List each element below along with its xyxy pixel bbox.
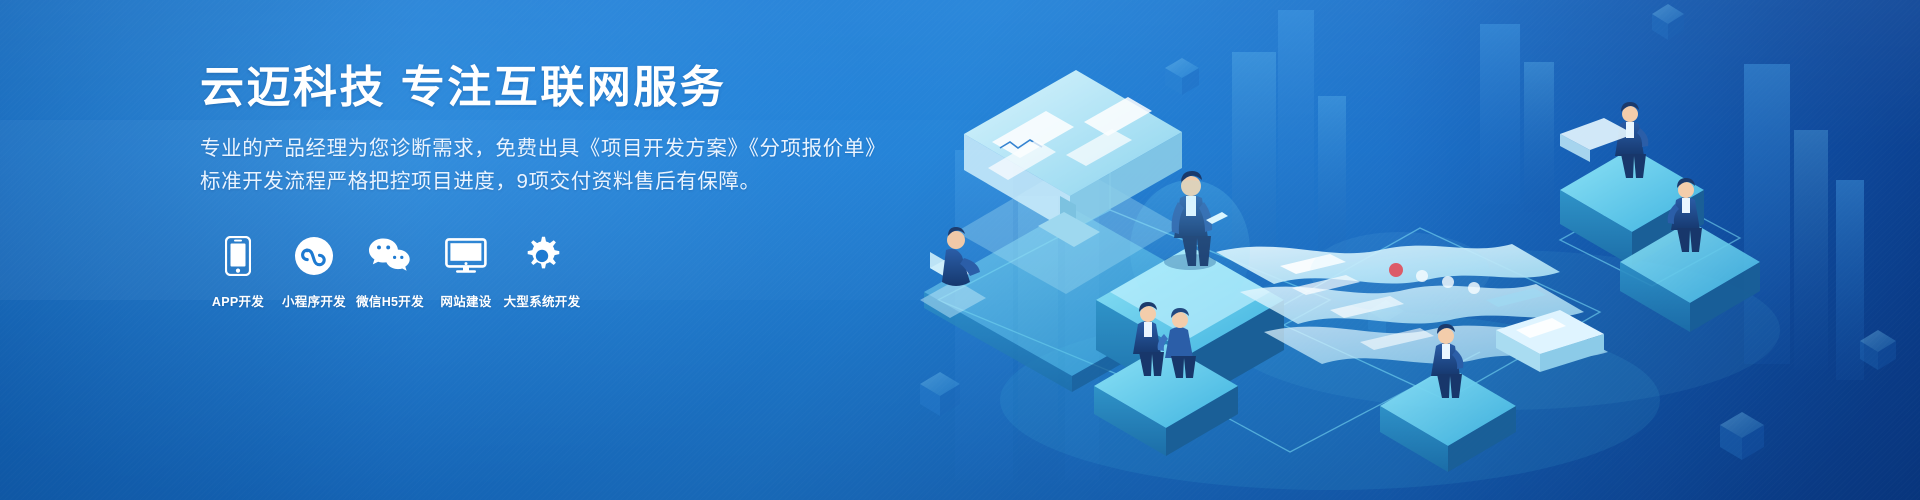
monitor-icon [444,234,488,278]
service-item-large-system[interactable]: 大型系统开发 [504,234,580,310]
service-item-app[interactable]: APP开发 [200,234,276,310]
service-label-wechat: 微信H5开发 [356,291,424,310]
service-item-website[interactable]: 网站建设 [428,234,504,310]
mobile-phone-icon [216,234,260,278]
hero-subtitle-line-2: 标准开发流程严格把控项目进度，9项交付资料售后有保障。 [200,165,960,198]
page-title: 云迈科技 专注互联网服务 [200,62,960,114]
service-label-miniprogram: 小程序开发 [282,291,346,310]
service-label-website: 网站建设 [440,291,491,310]
mini-program-icon [292,234,336,278]
isometric-illustration [860,0,1920,500]
service-label-large-system: 大型系统开发 [504,291,581,310]
service-item-wechat[interactable]: 微信H5开发 [352,234,428,310]
service-item-miniprogram[interactable]: 小程序开发 [276,234,352,310]
gear-icon [520,234,564,278]
service-label-app: APP开发 [212,291,264,310]
hero-subtitle-line-1: 专业的产品经理为您诊断需求，免费出具《项目开发方案》《分项报价单》 [200,132,960,165]
wechat-icon [368,234,412,278]
service-list: APP开发 小程序开发 [200,234,580,310]
hero-banner: 云迈科技 专注互联网服务 专业的产品经理为您诊断需求，免费出具《项目开发方案》《… [0,0,1920,500]
hero-text-block: 云迈科技 专注互联网服务 专业的产品经理为您诊断需求，免费出具《项目开发方案》《… [200,62,960,198]
